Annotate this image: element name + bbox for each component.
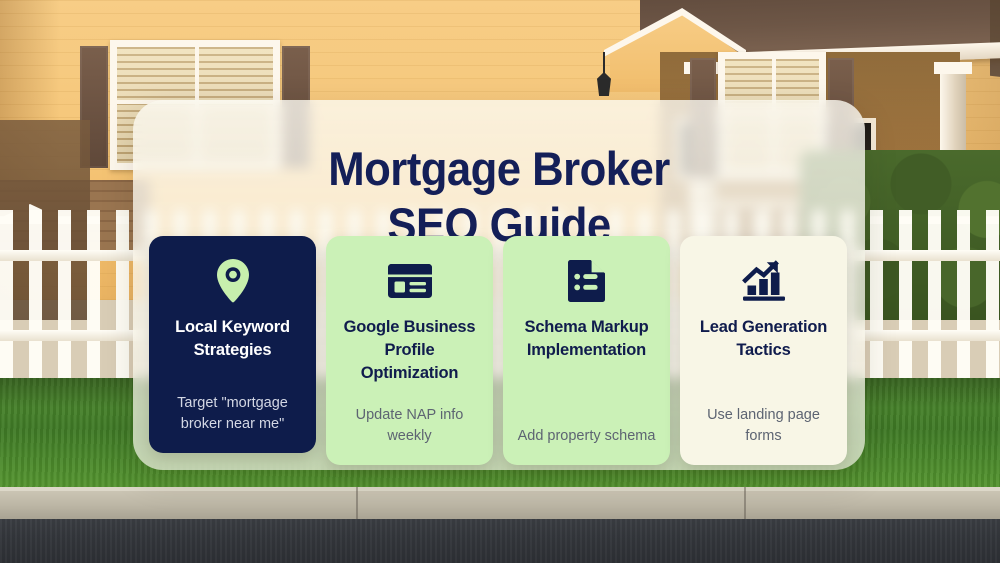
card-google-business-profile-optimization[interactable]: Google Business Profile Optimization Upd…: [326, 236, 493, 465]
infographic-canvas: Mortgage Broker SEO Guide Local Keyword …: [0, 0, 1000, 563]
id-card-icon: [387, 258, 433, 304]
growth-chart-icon: [742, 258, 786, 304]
map-pin-icon: [215, 258, 251, 304]
card-schema-markup-implementation[interactable]: Schema Markup Implementation Add propert…: [503, 236, 670, 465]
card-title: Local Keyword Strategies: [161, 316, 304, 362]
page-title-line-1: Mortgage Broker: [328, 142, 669, 195]
card-description: Update NAP info weekly: [338, 387, 481, 447]
road-texture: [0, 519, 1000, 563]
curb-seam: [744, 487, 746, 519]
document-list-icon: [567, 258, 607, 304]
curb-seam: [356, 487, 358, 519]
card-title: Google Business Profile Optimization: [338, 316, 481, 385]
curb: [0, 487, 1000, 519]
card-local-keyword-strategies[interactable]: Local Keyword Strategies Target "mortgag…: [149, 236, 316, 453]
card-title: Schema Markup Implementation: [515, 316, 658, 362]
feature-card-list: Local Keyword Strategies Target "mortgag…: [149, 236, 849, 468]
card-description: Use landing page forms: [692, 387, 835, 447]
card-lead-generation-tactics[interactable]: Lead Generation Tactics Use landing page…: [680, 236, 847, 465]
lantern-rod: [603, 52, 605, 74]
card-description: Target "mortgage broker near me": [161, 375, 304, 435]
card-title: Lead Generation Tactics: [692, 316, 835, 362]
porch-column-cap-right: [934, 62, 972, 74]
card-description: Add property schema: [518, 408, 656, 447]
curb-top-edge: [0, 487, 1000, 491]
